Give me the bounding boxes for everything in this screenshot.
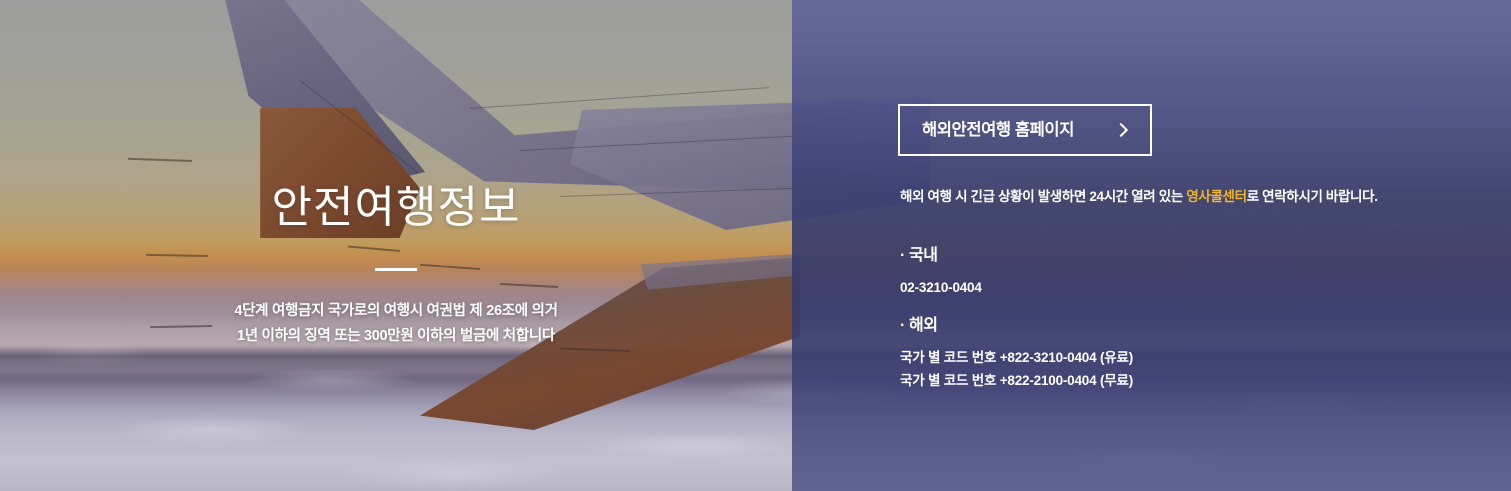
domestic-heading: · 국내 bbox=[900, 246, 1460, 265]
domestic-phone-number: 02-3210-0404 bbox=[900, 277, 1460, 299]
safe-travel-banner: 안전여행정보 4단계 여행금지 국가로의 여행시 여권법 제 26조에 의거 1… bbox=[0, 0, 1511, 491]
domestic-contact-group: · 국내 02-3210-0404 bbox=[900, 246, 1460, 300]
emergency-intro-text: 해외 여행 시 긴급 상황이 발생하면 24시간 열려 있는 영사콜센터로 연락… bbox=[900, 186, 1460, 208]
overseas-safe-travel-homepage-button[interactable]: 해외안전여행 홈페이지 bbox=[898, 104, 1152, 156]
hero-subtitle: 4단계 여행금지 국가로의 여행시 여권법 제 26조에 의거 1년 이하의 징… bbox=[234, 299, 557, 349]
intro-part-1: 해외 여행 시 긴급 상황이 발생하면 24시간 열려 있는 bbox=[900, 189, 1186, 204]
cta-label: 해외안전여행 홈페이지 bbox=[922, 122, 1074, 139]
hero-text-block: 안전여행정보 4단계 여행금지 국가로의 여행시 여권법 제 26조에 의거 1… bbox=[0, 0, 792, 491]
info-panel-content: 해외안전여행 홈페이지 해외 여행 시 긴급 상황이 발생하면 24시간 열려 … bbox=[898, 0, 1498, 491]
hero-subtitle-line-2: 1년 이하의 징역 또는 300만원 이하의 벌금에 처합니다 bbox=[234, 324, 557, 349]
overseas-contact-group: · 해외 국가 별 코드 번호 +822-3210-0404 (유료) 국가 별… bbox=[900, 316, 1460, 392]
overseas-phone-paid: 국가 별 코드 번호 +822-3210-0404 (유료) bbox=[900, 347, 1460, 369]
title-divider bbox=[375, 268, 417, 271]
info-panel: 해외안전여행 홈페이지 해외 여행 시 긴급 상황이 발생하면 24시간 열려 … bbox=[792, 0, 1511, 491]
chevron-right-icon bbox=[1114, 123, 1128, 137]
consular-call-center-highlight: 영사콜센터 bbox=[1186, 189, 1246, 204]
page-title: 안전여행정보 bbox=[272, 184, 521, 232]
overseas-phone-free: 국가 별 코드 번호 +822-2100-0404 (무료) bbox=[900, 370, 1460, 392]
overseas-heading: · 해외 bbox=[900, 316, 1460, 335]
intro-part-2: 로 연락하시기 바랍니다. bbox=[1247, 189, 1378, 204]
hero-subtitle-line-1: 4단계 여행금지 국가로의 여행시 여권법 제 26조에 의거 bbox=[234, 299, 557, 324]
